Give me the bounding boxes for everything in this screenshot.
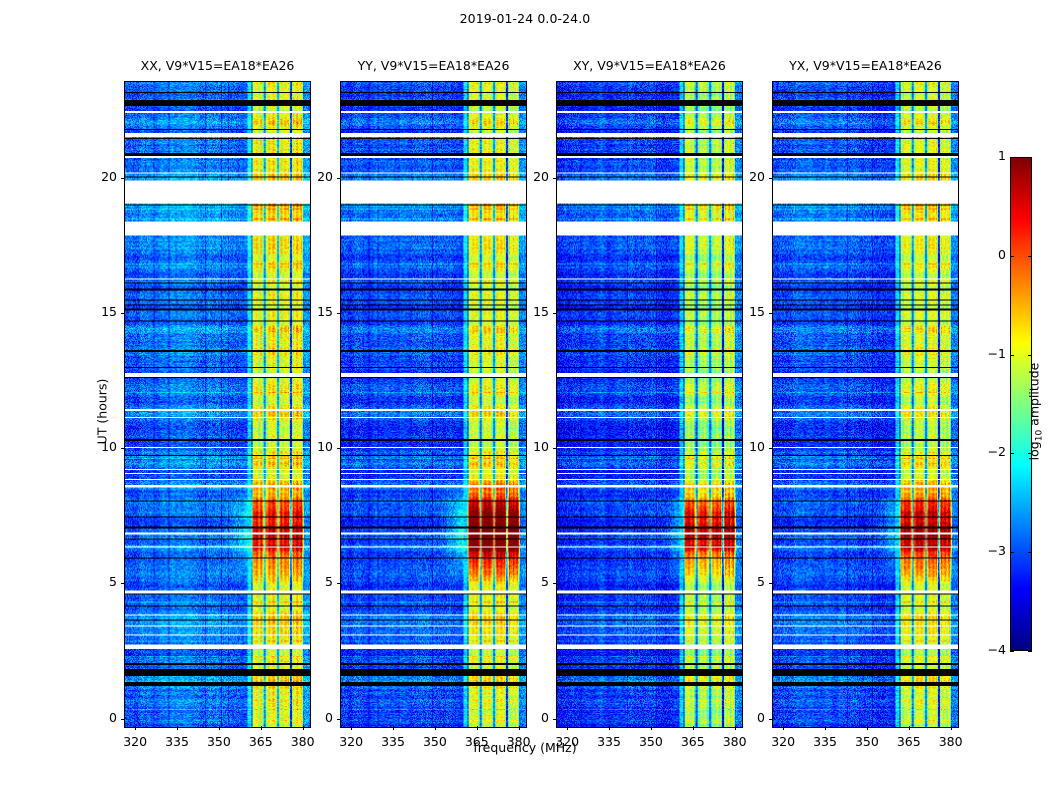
panel-title-yx: YX, V9*V15=EA18*EA26 (772, 58, 959, 73)
x-tick-mark (351, 726, 352, 730)
y-axis-label: UT (hours) (95, 352, 110, 472)
y-tick-mark (553, 583, 557, 584)
x-tick-mark (303, 726, 304, 730)
y-tick-mark (769, 178, 773, 179)
panel-title-xx: XX, V9*V15=EA18*EA26 (124, 58, 311, 73)
colorbar-tick-mark-left (1010, 453, 1014, 454)
colorbar-tick-mark-right (1028, 552, 1032, 553)
y-tick-mark (553, 313, 557, 314)
colorbar-tick-label: −4 (966, 642, 1006, 657)
x-tick-mark (651, 726, 652, 730)
y-tick-mark (121, 719, 125, 720)
panel-xy[interactable]: XY, V9*V15=EA18*EA26 05101520 3203353503… (556, 81, 743, 728)
y-tick-mark (121, 448, 125, 449)
x-tick-mark (693, 726, 694, 730)
y-tick-label: 20 (293, 169, 333, 184)
figure-canvas: 2019-01-24 0.0-24.0 XX, V9*V15=EA18*EA26… (0, 0, 1050, 800)
y-tick-label: 0 (509, 710, 549, 725)
x-tick-mark (609, 726, 610, 730)
y-tick-label: 5 (509, 574, 549, 589)
y-tick-label: 15 (77, 304, 117, 319)
colorbar-tick-mark-right (1028, 651, 1032, 652)
y-tick-label: 20 (725, 169, 765, 184)
colorbar-tick-label: −2 (966, 444, 1006, 459)
panel-title-yy: YY, V9*V15=EA18*EA26 (340, 58, 527, 73)
y-tick-mark (337, 313, 341, 314)
x-tick-mark (951, 726, 952, 730)
x-tick-mark (219, 726, 220, 730)
y-tick-mark (769, 583, 773, 584)
y-tick-mark (553, 719, 557, 720)
y-tick-mark (553, 178, 557, 179)
colorbar-tick-label: −1 (966, 346, 1006, 361)
colorbar-tick-label: 1 (966, 148, 1006, 163)
x-tick-mark (261, 726, 262, 730)
x-tick-mark (435, 726, 436, 730)
y-tick-mark (553, 448, 557, 449)
panel-yy[interactable]: YY, V9*V15=EA18*EA26 05101520 3203353503… (340, 81, 527, 728)
x-tick-mark (909, 726, 910, 730)
x-tick-mark (783, 726, 784, 730)
x-tick-mark (825, 726, 826, 730)
x-tick-mark (735, 726, 736, 730)
x-tick-mark (567, 726, 568, 730)
colorbar-tick-mark-right (1028, 157, 1032, 158)
y-tick-label: 15 (293, 304, 333, 319)
colorbar-tick-mark-left (1010, 552, 1014, 553)
panel-title-xy: XY, V9*V15=EA18*EA26 (556, 58, 743, 73)
y-tick-label: 10 (725, 439, 765, 454)
y-tick-label: 15 (725, 304, 765, 319)
y-tick-mark (337, 448, 341, 449)
figure-suptitle: 2019-01-24 0.0-24.0 (0, 11, 1050, 26)
y-tick-label: 0 (725, 710, 765, 725)
y-tick-label: 5 (725, 574, 765, 589)
y-tick-label: 5 (293, 574, 333, 589)
x-tick-mark (867, 726, 868, 730)
y-tick-label: 5 (77, 574, 117, 589)
y-tick-mark (337, 583, 341, 584)
waterfall-plot-yx[interactable] (772, 81, 959, 728)
colorbar-tick-mark-left (1010, 157, 1014, 158)
colorbar-tick-label: 0 (966, 247, 1006, 262)
colorbar-label-subscript: 10 (1035, 430, 1045, 441)
x-tick-mark (177, 726, 178, 730)
y-tick-label: 0 (293, 710, 333, 725)
x-axis-label: frequency (MHz) (0, 740, 1050, 755)
colorbar-tick-label: −3 (966, 543, 1006, 558)
waterfall-plot-yy[interactable] (340, 81, 527, 728)
y-tick-mark (769, 448, 773, 449)
waterfall-plot-xx[interactable] (124, 81, 311, 728)
y-tick-mark (769, 313, 773, 314)
y-tick-label: 20 (77, 169, 117, 184)
y-tick-mark (121, 313, 125, 314)
panel-yx[interactable]: YX, V9*V15=EA18*EA26 05101520 3203353503… (772, 81, 959, 728)
waterfall-plot-xy[interactable] (556, 81, 743, 728)
y-tick-label: 15 (509, 304, 549, 319)
colorbar-tick-mark-left (1010, 651, 1014, 652)
y-tick-label: 20 (509, 169, 549, 184)
colorbar-label-log: log (1027, 441, 1042, 460)
y-tick-mark (337, 178, 341, 179)
colorbar-tick-mark-left (1010, 256, 1014, 257)
x-tick-mark (135, 726, 136, 730)
colorbar-label-rest: amplitude (1027, 363, 1042, 430)
x-tick-mark (477, 726, 478, 730)
y-tick-label: 10 (293, 439, 333, 454)
y-tick-label: 0 (77, 710, 117, 725)
y-tick-mark (121, 178, 125, 179)
y-tick-mark (769, 719, 773, 720)
panel-xx[interactable]: XX, V9*V15=EA18*EA26 05101520 3203353503… (124, 81, 311, 728)
y-tick-label: 10 (509, 439, 549, 454)
y-tick-mark (337, 719, 341, 720)
x-tick-mark (393, 726, 394, 730)
y-tick-mark (121, 583, 125, 584)
x-tick-mark (519, 726, 520, 730)
colorbar-tick-mark-left (1010, 355, 1014, 356)
colorbar-tick-mark-right (1028, 256, 1032, 257)
colorbar-label: log10 amplitude (1027, 332, 1042, 492)
